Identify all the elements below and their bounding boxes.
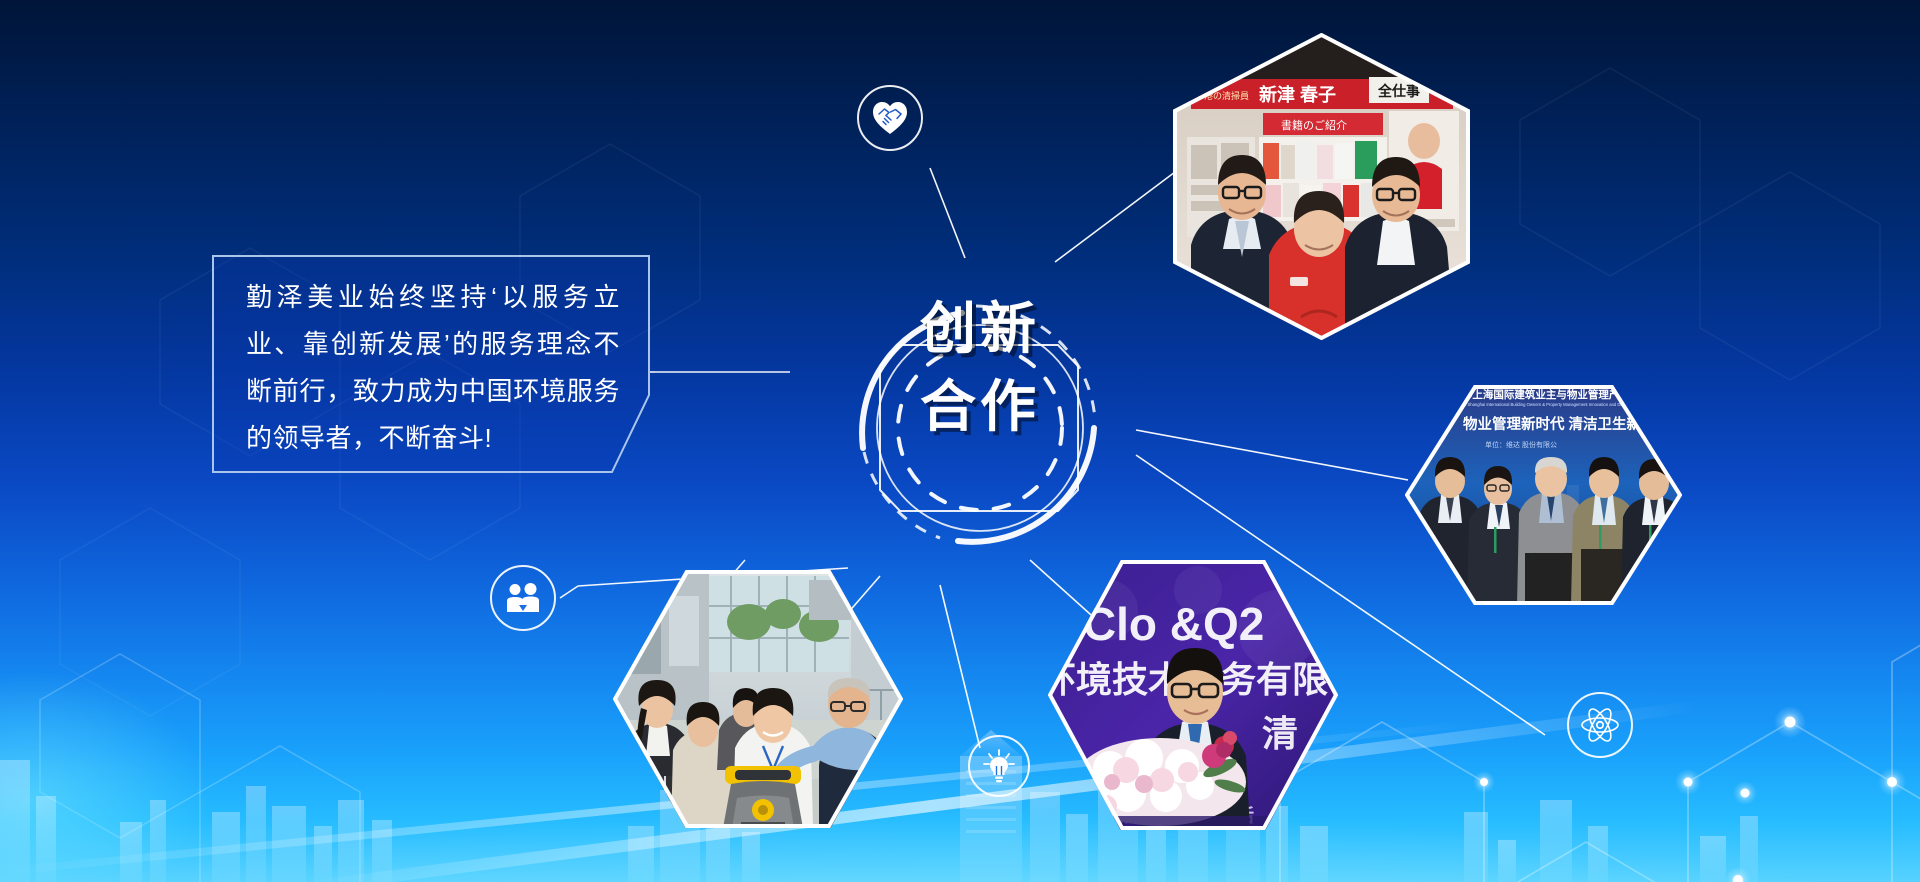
central-emblem: 创新 合作 bbox=[790, 238, 1170, 588]
promo-banner: 勤泽美业始终坚持‘以服务立业、靠创新发展’的服务理念不断前行，致力成为中国环境服… bbox=[0, 0, 1920, 882]
photo-clip: 2019上海国际建筑业主与物业管理产业创新发 2019 Shanghai Int… bbox=[1405, 385, 1682, 605]
photo-scene-training bbox=[613, 570, 903, 828]
photo-scene-keynote: e-Clo &Q2 环境技术服务有限 清 服务业联盟系列活 bbox=[1048, 560, 1338, 830]
svg-text:新津 春子: 新津 春子 bbox=[1259, 84, 1336, 105]
icon-node-lightbulb[interactable] bbox=[968, 735, 1030, 797]
mission-statement-text: 勤泽美业始终坚持‘以服务立业、靠创新发展’的服务理念不断前行，致力成为中国环境服… bbox=[246, 274, 620, 462]
atom-icon bbox=[1581, 706, 1619, 744]
two-people-icon bbox=[506, 583, 540, 613]
hexagon-photo-conference-group[interactable]: 2019上海国际建筑业主与物业管理产业创新发 2019 Shanghai Int… bbox=[1405, 385, 1682, 605]
callout-body: 勤泽美业始终坚持‘以服务立业、靠创新发展’的服务理念不断前行，致力成为中国环境服… bbox=[246, 289, 620, 447]
svg-text:物业管理新时代 清洁卫生新姿: 物业管理新时代 清洁卫生新姿 bbox=[1463, 415, 1656, 433]
mission-statement-callout: 勤泽美业始终坚持‘以服务立业、靠创新发展’的服务理念不断前行，致力成为中国环境服… bbox=[212, 255, 650, 473]
svg-text:全仕事: 全仕事 bbox=[1377, 83, 1420, 99]
photo-scene-conference: 2019上海国际建筑业主与物业管理产业创新发 2019 Shanghai Int… bbox=[1405, 385, 1682, 605]
hexagon-photo-keynote-speaker[interactable]: e-Clo &Q2 环境技术服务有限 清 服务业联盟系列活 bbox=[1048, 560, 1338, 830]
svg-text:中港の清掃員: 中港の清掃員 bbox=[1195, 90, 1249, 101]
svg-text:清: 清 bbox=[1262, 713, 1298, 754]
handshake-heart-icon bbox=[872, 101, 908, 135]
emblem-label: 创新 合作 bbox=[790, 290, 1170, 446]
emblem-label-line-1: 创新 bbox=[790, 290, 1170, 368]
hexagon-photo-equipment-training[interactable] bbox=[613, 570, 903, 828]
emblem-label-line-2: 合作 bbox=[790, 368, 1170, 446]
svg-text:2019 Shanghai International Bu: 2019 Shanghai International Building Own… bbox=[1457, 402, 1643, 407]
svg-text:e-Clo &Q2: e-Clo &Q2 bbox=[1048, 598, 1264, 650]
lightbulb-icon bbox=[983, 749, 1015, 783]
photo-scene-book-launch: 全仕事 新津 春子 中港の清掃員 書籍のご紹介 bbox=[1173, 33, 1470, 340]
icon-node-two-people[interactable] bbox=[490, 565, 556, 631]
svg-text:書籍のご紹介: 書籍のご紹介 bbox=[1281, 118, 1347, 132]
svg-text:2019上海国际建筑业主与物业管理产业创新发: 2019上海国际建筑业主与物业管理产业创新发 bbox=[1449, 388, 1662, 401]
icon-node-atom[interactable] bbox=[1567, 692, 1633, 758]
hexagon-photo-book-launch[interactable]: 全仕事 新津 春子 中港の清掃員 書籍のご紹介 bbox=[1173, 33, 1470, 340]
photo-clip: e-Clo &Q2 环境技术服务有限 清 服务业联盟系列活 bbox=[1048, 560, 1338, 830]
photo-clip bbox=[613, 570, 903, 828]
icon-node-handshake[interactable] bbox=[857, 85, 923, 151]
photo-clip: 全仕事 新津 春子 中港の清掃員 書籍のご紹介 bbox=[1173, 33, 1470, 340]
svg-text:单位：维达 股份有限公: 单位：维达 股份有限公 bbox=[1485, 440, 1557, 449]
